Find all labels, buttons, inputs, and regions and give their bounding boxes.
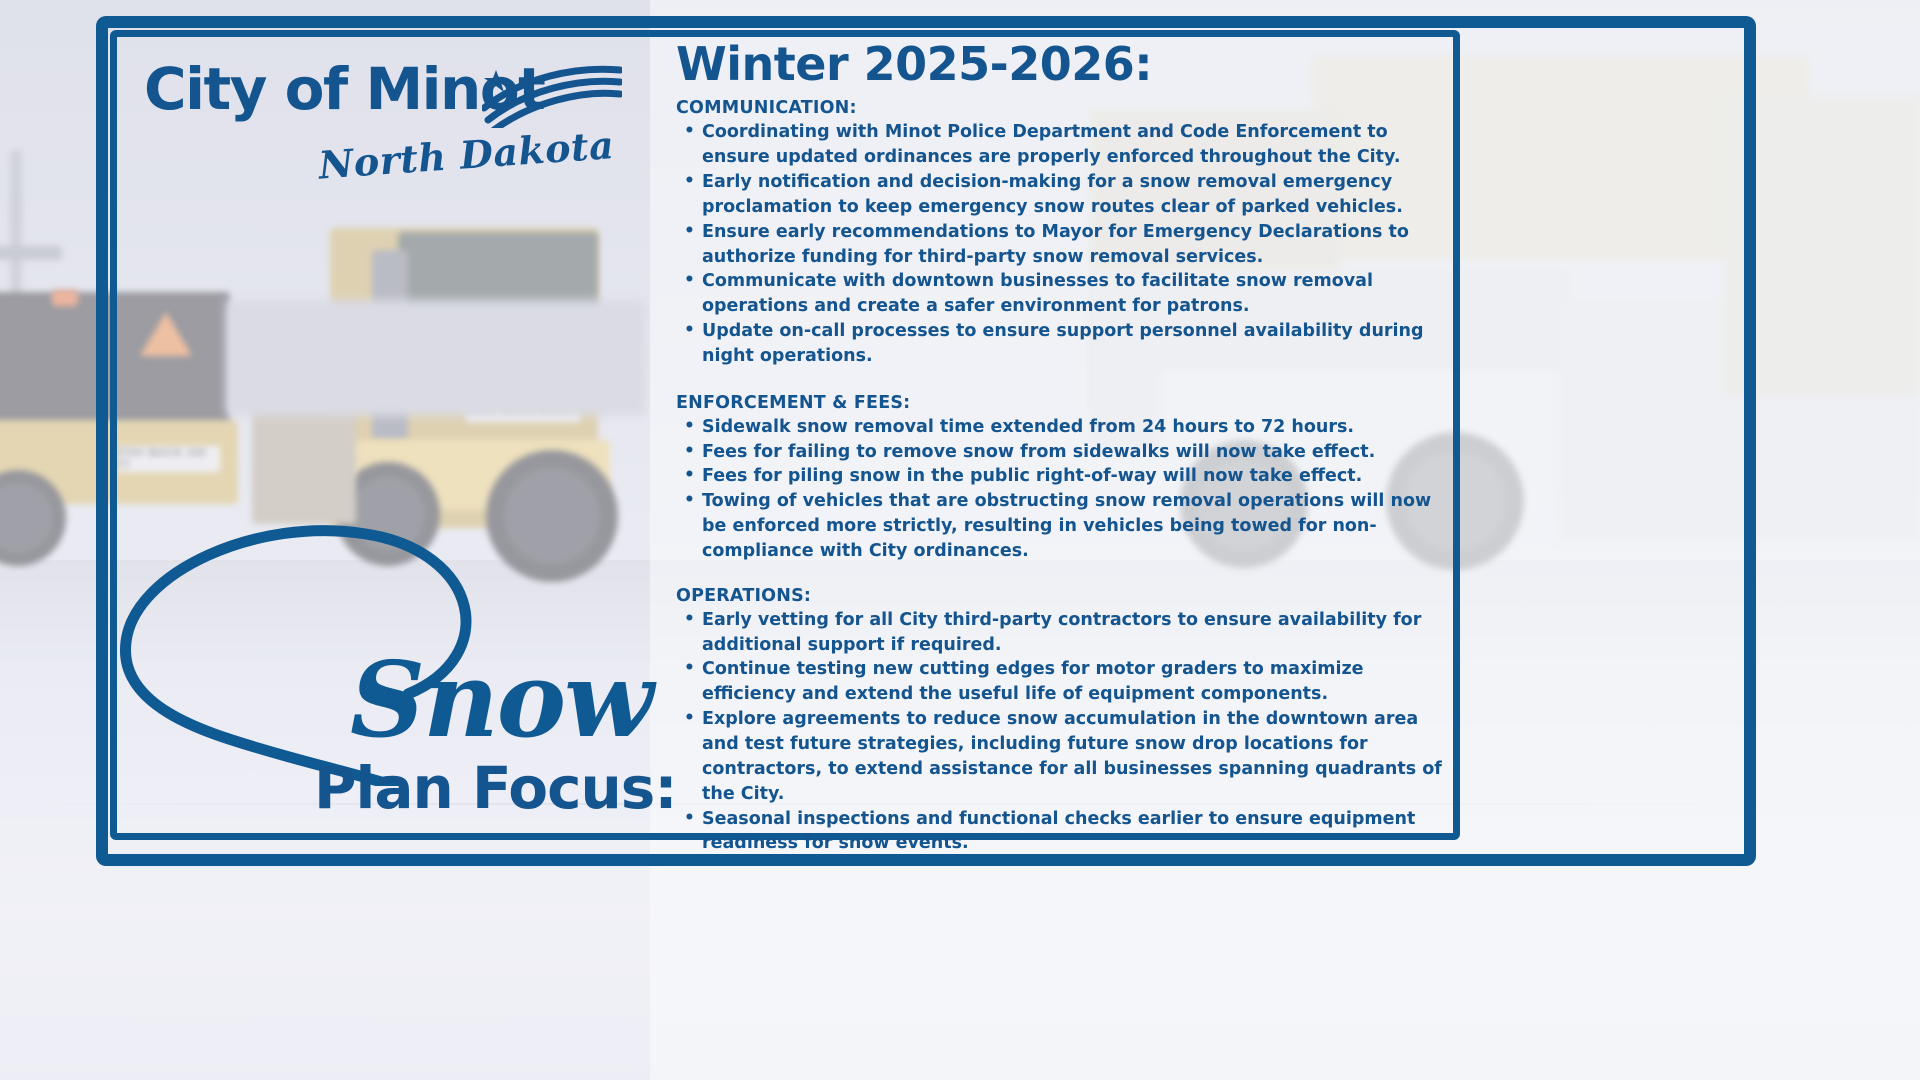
list-item: Fees for failing to remove snow from sid… [676,440,1446,465]
snow-script-word: Snow [350,648,652,752]
list-item: Sidewalk snow removal time extended from… [676,415,1446,440]
list-item: Towing of vehicles that are obstructing … [676,489,1446,564]
list-item: Fees for piling snow in the public right… [676,464,1446,489]
list-item: Seasonal inspections and functional chec… [676,807,1446,857]
section-spacer [676,369,1446,393]
list-item: Ensure early recommendations to Mayor fo… [676,220,1446,270]
section-enforcement-fees: ENFORCEMENT & FEES: Sidewalk snow remova… [676,393,1446,564]
plan-focus-subtitle: Plan Focus: [314,754,677,822]
swoosh-icon [482,64,622,128]
section-operations: OPERATIONS: Early vetting for all City t… [676,586,1446,856]
city-of-minot-logo: City of Minot North Dakota [144,60,614,210]
left-panel: City of Minot North Dakota Snow Plan Foc… [118,36,650,834]
list-item: Continue testing new cutting edges for m… [676,657,1446,707]
list-item: Communicate with downtown businesses to … [676,269,1446,319]
poster-canvas: STAY BACK 100 FT STAY BACK 100 FT [0,0,1920,1080]
section-heading: ENFORCEMENT & FEES: [676,393,1446,413]
list-item: Update on-call processes to ensure suppo… [676,319,1446,369]
list-item: Early notification and decision-making f… [676,170,1446,220]
bullet-list: Coordinating with Minot Police Departmen… [676,120,1446,368]
logo-secondary-text: North Dakota [317,122,615,188]
content-panel: Winter 2025-2026: COMMUNICATION: Coordin… [676,40,1446,840]
bullet-list: Early vetting for all City third-party c… [676,608,1446,856]
section-heading: COMMUNICATION: [676,98,1446,118]
bullet-list: Sidewalk snow removal time extended from… [676,415,1446,564]
list-item: Explore agreements to reduce snow accumu… [676,707,1446,806]
page-title: Winter 2025-2026: [676,40,1446,88]
list-item: Early vetting for all City third-party c… [676,608,1446,658]
list-item: Coordinating with Minot Police Departmen… [676,120,1446,170]
section-communication: COMMUNICATION: Coordinating with Minot P… [676,98,1446,368]
section-heading: OPERATIONS: [676,586,1446,606]
section-spacer [676,564,1446,586]
